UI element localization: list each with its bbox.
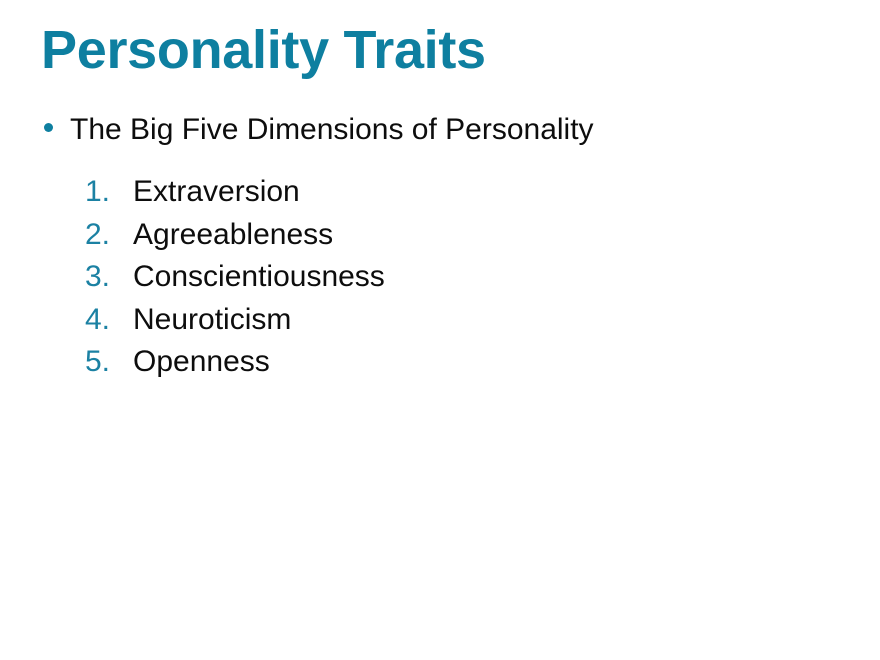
- numbered-list: 1. Extraversion 2. Agreeableness 3. Cons…: [0, 171, 880, 384]
- list-item-label: Neuroticism: [133, 303, 291, 336]
- list-item-label: Conscientiousness: [133, 260, 385, 293]
- list-item-label: Openness: [133, 345, 270, 378]
- list-item-label: Agreeableness: [133, 218, 333, 251]
- list-item: 5. Openness: [0, 341, 880, 384]
- list-item: 2. Agreeableness: [0, 214, 880, 257]
- list-item-number: 1.: [85, 171, 125, 214]
- list-item-number: 2.: [85, 214, 125, 257]
- slide-body: The Big Five Dimensions of Personality 1…: [0, 110, 880, 384]
- list-item: 3. Conscientiousness: [0, 256, 880, 299]
- list-item: 4. Neuroticism: [0, 299, 880, 342]
- bullet-dot-icon: [44, 123, 53, 132]
- list-item-number: 4.: [85, 299, 125, 342]
- bullet-item-label: The Big Five Dimensions of Personality: [70, 110, 880, 150]
- list-item-number: 5.: [85, 341, 125, 384]
- list-item-label: Extraversion: [133, 175, 300, 208]
- slide-canvas: Personality Traits The Big Five Dimensio…: [0, 0, 880, 660]
- list-item-number: 3.: [85, 256, 125, 299]
- bullet-list-item: The Big Five Dimensions of Personality: [0, 110, 880, 150]
- page-title: Personality Traits: [41, 22, 486, 79]
- list-item: 1. Extraversion: [0, 171, 880, 214]
